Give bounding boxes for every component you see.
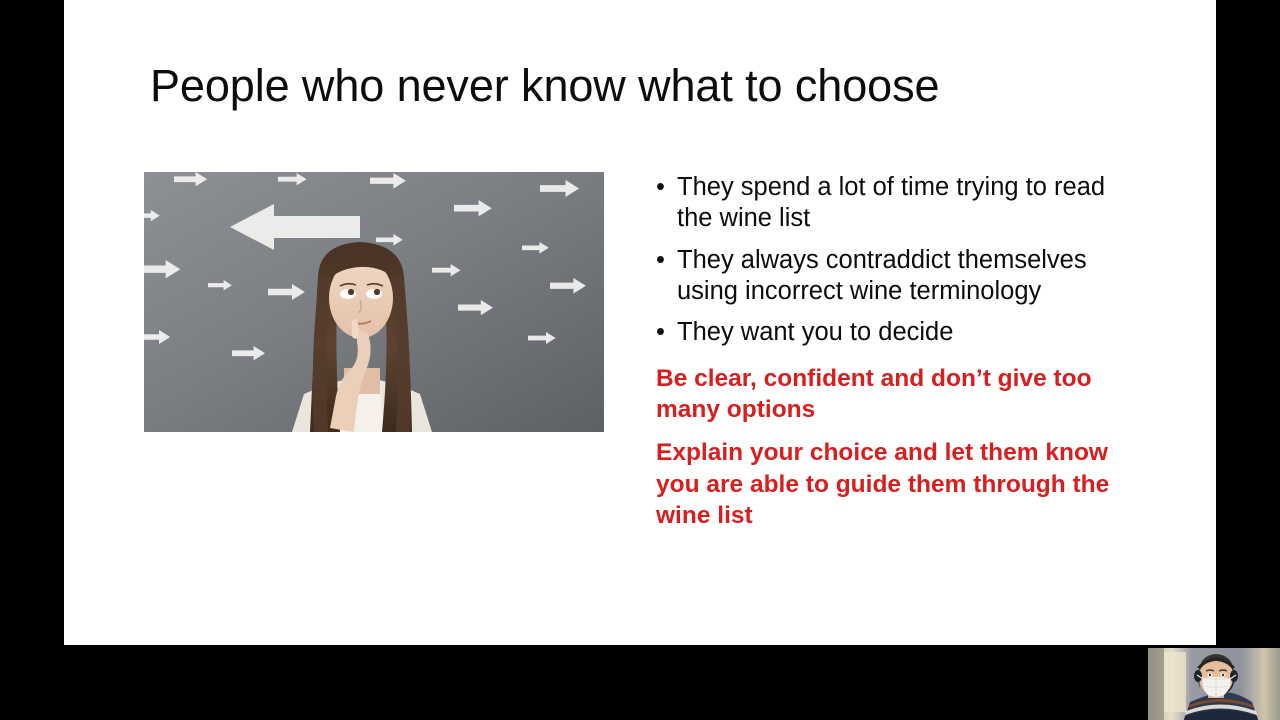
slide-image-thinking-woman [144,172,604,432]
bullet-marker-icon: • [656,317,665,348]
thinking-woman-illustration [144,172,604,432]
webcam-self-view[interactable] [1148,648,1280,720]
page-title: People who never know what to choose [150,62,1150,109]
slide-canvas: People who never know what to choose [64,0,1216,645]
slide-body-content: • They spend a lot of time trying to rea… [653,172,1123,543]
bullet-marker-icon: • [656,172,665,203]
presentation-screen: People who never know what to choose [0,0,1280,720]
emphasis-text-explain-your-choice: Explain your choice and let them know yo… [653,437,1123,530]
list-item-label: They want you to decide [677,318,953,346]
list-item-label: They always contraddict themselves using… [677,246,1087,305]
list-item: • They want you to decide [653,317,1123,348]
bullet-list: • They spend a lot of time trying to rea… [653,172,1123,348]
list-item-label: They spend a lot of time trying to read … [677,173,1105,232]
list-item: • They always contraddict themselves usi… [653,245,1123,307]
emphasis-text-be-clear: Be clear, confident and don’t give too m… [653,363,1123,425]
list-item: • They spend a lot of time trying to rea… [653,172,1123,234]
bullet-marker-icon: • [656,245,665,276]
webcam-video-frame [1148,648,1280,720]
